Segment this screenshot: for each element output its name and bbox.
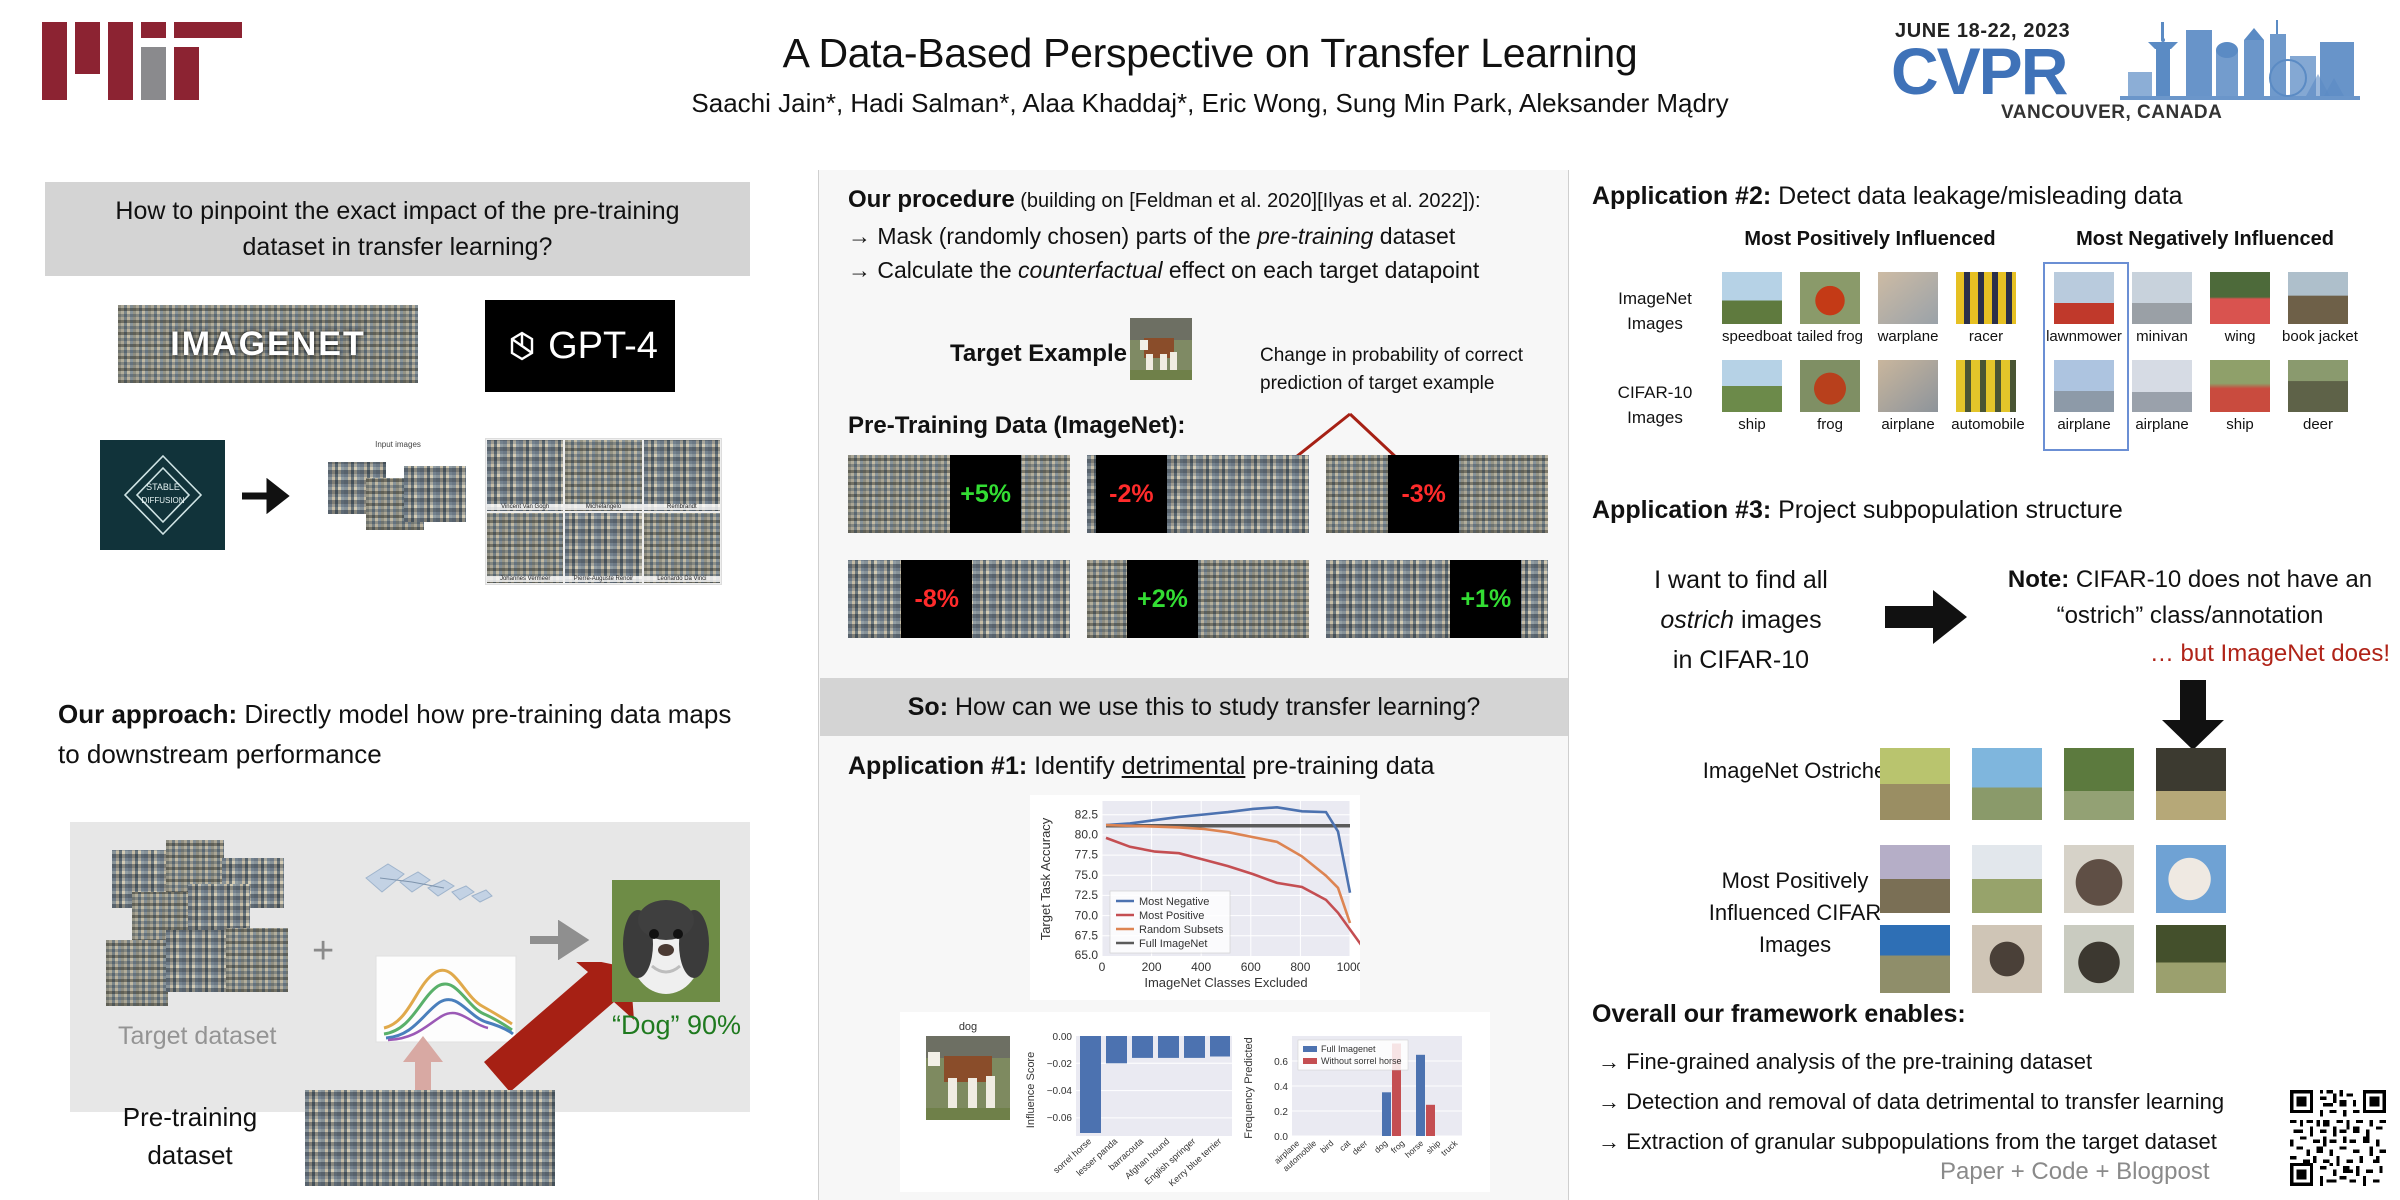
svg-text:truck: truck — [1439, 1138, 1460, 1158]
caption: frog — [1800, 416, 1860, 433]
svg-text:67.5: 67.5 — [1075, 929, 1099, 943]
thumb-deer-neg — [2288, 360, 2348, 412]
masked-panel-value: -2% — [1109, 480, 1153, 509]
caption: speedboat — [1722, 328, 1782, 345]
cifar-ostrich-thumb — [2156, 925, 2226, 993]
caption: warplane — [1874, 328, 1942, 345]
svg-text:Frequency Predicted: Frequency Predicted — [1243, 1037, 1255, 1139]
procedure-citation: (building on [Feldman et al. 2020][Ilyas… — [1015, 190, 1481, 212]
plus-symbol: + — [312, 930, 334, 973]
sd-input-images: Input images — [318, 440, 478, 550]
qr-code[interactable] — [2290, 1090, 2386, 1186]
thumb-automobile — [1956, 360, 2016, 412]
caption: airplane — [2050, 416, 2118, 433]
app2-caption-row-neg-cifar: airplane airplane ship deer — [2054, 416, 2354, 440]
stable-diffusion-icon: STABLE DIFFUSION — [115, 450, 211, 540]
caption: lawnmower — [2046, 328, 2122, 345]
app3-note: Note: CIFAR-10 does not have an “ostrich… — [1990, 562, 2390, 634]
svg-text:200: 200 — [1142, 960, 1162, 974]
svg-text:0: 0 — [1099, 960, 1106, 974]
caption: ship — [1722, 416, 1782, 433]
want-ostrich: ostrich — [1660, 606, 1734, 634]
app3-ostrich-row-imagenet — [1880, 748, 2240, 826]
masked-panel: +2% — [1087, 560, 1309, 638]
svg-text:−0.06: −0.06 — [1047, 1113, 1073, 1124]
app1-label: Application #1: — [848, 752, 1027, 780]
svg-text:75.0: 75.0 — [1075, 868, 1099, 882]
app3-but-imagenet-does: … but ImageNet does! — [1990, 640, 2390, 668]
caption: minivan — [2132, 328, 2192, 345]
our-approach-label: Our approach: — [58, 699, 237, 729]
app3-ostrich-row-cifar-1 — [1880, 845, 2240, 917]
ostrich-thumb — [2064, 748, 2134, 820]
svg-text:400: 400 — [1191, 960, 1211, 974]
cifar-ostrich-thumb — [1972, 925, 2042, 993]
want-line2-rest: images — [1734, 606, 1822, 634]
caption: automobile — [1950, 416, 2026, 433]
masked-panel-value: +1% — [1460, 585, 1511, 614]
masked-panel: -2% — [1087, 455, 1309, 533]
app3-ostrich-row-cifar-2 — [1880, 925, 2240, 997]
cifar-ostrich-thumb — [1880, 925, 1950, 993]
pretraining-dataset-thumb — [305, 1090, 555, 1186]
app3-cifar-label: Most Positively Influenced CIFAR Images — [1690, 865, 1900, 961]
masked-panels-grid: +5% -2% -3% -8% +2% +1% — [848, 455, 1548, 655]
down-arrow-icon — [2160, 680, 2226, 752]
svg-text:−0.02: −0.02 — [1047, 1059, 1073, 1070]
masked-panel-value: -8% — [915, 585, 959, 614]
overall-item-text: Extraction of granular subpopulations fr… — [1626, 1129, 2217, 1154]
svg-text:600: 600 — [1241, 960, 1261, 974]
svg-text:horse: horse — [1403, 1138, 1426, 1160]
so-label: So: — [908, 693, 948, 721]
svg-text:82.5: 82.5 — [1075, 807, 1099, 821]
so-banner: So: How can we use this to study transfe… — [820, 678, 1568, 736]
svg-text:dog: dog — [959, 1021, 977, 1033]
sd-artist-grid: Vincent Van Gogh Michelangelo Rembrandt … — [485, 438, 722, 585]
pretraining-data-label: Pre-Training Data (ImageNet): — [848, 412, 1185, 440]
svg-text:Full ImageNet: Full ImageNet — [1139, 938, 1207, 950]
app3-imagenet-ostriches-label: ImageNet Ostriches — [1700, 755, 1900, 787]
accuracy-line-chart: 65.067.570.0 72.575.077.5 80.082.5 02004… — [1030, 795, 1360, 1000]
ostrich-thumb — [2156, 748, 2226, 820]
divider-right — [1568, 170, 1569, 1200]
app1-underline: detrimental — [1122, 752, 1246, 780]
so-body: How can we use this to study transfer le… — [948, 693, 1480, 721]
author-list: Saachi Jain*, Hadi Salman*, Alaa Khaddaj… — [600, 88, 1820, 119]
divider-left — [818, 170, 819, 1200]
thumb-tailed-frog — [1800, 272, 1860, 324]
svg-text:deer: deer — [1350, 1138, 1369, 1157]
cifar-ostrich-thumb — [2156, 845, 2226, 913]
svg-text:72.5: 72.5 — [1075, 888, 1099, 902]
ostrich-thumb — [1972, 748, 2042, 820]
target-example-thumb — [1130, 318, 1192, 380]
svg-text:Target Task Accuracy: Target Task Accuracy — [1038, 817, 1053, 940]
openai-icon — [502, 326, 542, 366]
cifar-ostrich-thumb — [1972, 845, 2042, 913]
masked-panel-value: +2% — [1137, 585, 1188, 614]
ostrich-thumb — [1880, 748, 1950, 820]
cifar-ostrich-thumb — [1880, 845, 1950, 913]
app2-caption-row-pos-cifar: ship frog airplane automobile — [1722, 416, 2022, 440]
app2-positive-header: Most Positively Influenced — [1720, 228, 2020, 251]
app2-caption-row-pos-imagenet: speedboat tailed frog warplane racer — [1722, 328, 2022, 352]
svg-text:dog: dog — [1372, 1138, 1389, 1155]
overall-list: → Fine-grained analysis of the pre-train… — [1598, 1042, 2318, 1162]
thumb-warplane — [1878, 272, 1938, 324]
arrow-glyph-icon: → — [848, 257, 871, 283]
qr-caption: Paper + Code + Blogpost — [1940, 1158, 2210, 1186]
gpt4-label: GPT-4 — [548, 325, 658, 368]
svg-text:bird: bird — [1318, 1138, 1335, 1155]
step1-post: dataset — [1373, 223, 1455, 249]
svg-text:STABLE: STABLE — [146, 482, 180, 492]
caption: airplane — [2128, 416, 2196, 433]
target-dataset-label: Target dataset — [118, 1022, 276, 1051]
callout-text: Change in probability of correct predict… — [1260, 342, 1560, 398]
caption: book jacket — [2282, 328, 2358, 345]
app2-label: Application #2: — [1592, 182, 1771, 210]
note-body: CIFAR-10 does not have an “ostrich” clas… — [2057, 566, 2373, 629]
masked-panel: +5% — [848, 455, 1070, 533]
svg-text:65.0: 65.0 — [1075, 948, 1099, 962]
app2-body: Detect data leakage/misleading data — [1771, 182, 2182, 210]
want-line3: in CIFAR-10 — [1606, 640, 1876, 680]
neural-network-icon — [360, 852, 520, 937]
overall-item-text: Detection and removal of data detrimenta… — [1626, 1089, 2224, 1114]
app2-imagenet-row-label: ImageNet Images — [1600, 286, 1710, 336]
procedure-step-1: → Mask (randomly chosen) parts of the pr… — [848, 219, 1548, 253]
svg-text:Most Positive: Most Positive — [1139, 910, 1204, 922]
sd-artist-caption: Leonardo Da Vinci — [644, 576, 720, 582]
thumb-minivan — [2132, 272, 2192, 324]
svg-text:Without sorrel horse: Without sorrel horse — [1321, 1056, 1402, 1066]
application1-heading: Application #1: Identify detrimental pre… — [848, 752, 1434, 781]
caption: tailed frog — [1794, 328, 1866, 345]
overall-heading: Overall our framework enables: — [1592, 1000, 1966, 1029]
thumb-speedboat — [1722, 272, 1782, 324]
sd-artist-caption: Pierre-Auguste Renoir — [565, 576, 641, 582]
masked-panel: +1% — [1326, 560, 1548, 638]
masked-panel: -3% — [1326, 455, 1548, 533]
target-example-label: Target Example — [950, 340, 1127, 368]
svg-text:ImageNet Classes Excluded: ImageNet Classes Excluded — [1144, 975, 1307, 990]
imagenet-wordmark: IMAGENET — [118, 305, 418, 383]
page-title: A Data-Based Perspective on Transfer Lea… — [600, 30, 1820, 77]
step2-post: effect on each target datapoint — [1163, 257, 1480, 283]
svg-text:Random Subsets: Random Subsets — [1139, 924, 1224, 936]
sd-input-label: Input images — [318, 440, 478, 449]
research-question-text: How to pinpoint the exact impact of the … — [78, 193, 718, 265]
horse-photo — [1130, 318, 1192, 380]
procedure-label: Our procedure — [848, 186, 1015, 213]
caption: wing — [2210, 328, 2270, 345]
vancouver-skyline-icon — [2120, 16, 2360, 102]
procedure-block: Our procedure (building on [Feldman et a… — [848, 182, 1548, 287]
svg-text:0.2: 0.2 — [1274, 1107, 1288, 1118]
caption: ship — [2210, 416, 2270, 433]
caption: deer — [2288, 416, 2348, 433]
thumb-book-jacket — [2288, 272, 2348, 324]
svg-text:80.0: 80.0 — [1075, 828, 1099, 842]
masked-panel: -8% — [848, 560, 1070, 638]
sd-artist-caption: Johannes Vermeer — [487, 576, 563, 582]
thumb-ship — [1722, 360, 1782, 412]
svg-text:1000: 1000 — [1337, 960, 1360, 974]
thumb-airplane — [1878, 360, 1938, 412]
black-right-arrow-icon — [1885, 588, 1971, 646]
qr-code-icon[interactable] — [2290, 1090, 2386, 1186]
sd-artist-caption: Vincent Van Gogh — [487, 504, 563, 510]
app3-label: Application #3: — [1592, 496, 1771, 524]
app2-negative-header: Most Negatively Influenced — [2055, 228, 2355, 251]
mit-logo — [42, 22, 242, 100]
thumb-ship-neg — [2210, 360, 2270, 412]
svg-text:70.0: 70.0 — [1075, 908, 1099, 922]
step1-pre: Mask (randomly chosen) parts of the — [877, 223, 1257, 249]
svg-text:ship: ship — [1424, 1138, 1442, 1156]
want-line1: I want to find all — [1606, 560, 1876, 600]
gpt4-logo: GPT-4 — [485, 300, 675, 392]
step2-pre: Calculate the — [877, 257, 1018, 283]
dog-prediction-label: “Dog” 90% — [612, 1010, 741, 1041]
svg-text:800: 800 — [1290, 960, 1310, 974]
app1-post: pre-training data — [1245, 752, 1434, 780]
pretraining-dataset-label: Pre-training dataset — [95, 1098, 285, 1174]
cifar-ostrich-thumb — [2064, 845, 2134, 913]
overall-item: → Fine-grained analysis of the pre-train… — [1598, 1042, 2318, 1082]
cvpr-logo: JUNE 18-22, 2023 CVPR VANCOUVER, CANADA — [1895, 14, 2365, 118]
svg-text:0.0: 0.0 — [1274, 1132, 1288, 1143]
poster-root: A Data-Based Perspective on Transfer Lea… — [0, 0, 2400, 1200]
dog-prediction-thumb — [612, 880, 720, 1002]
imagenet-dataset-thumb: IMAGENET — [118, 305, 418, 383]
thumb-racer — [1956, 272, 2016, 324]
app3-want-text: I want to find all ostrich images in CIF… — [1606, 560, 1876, 680]
pretraining-dataset-block: Pre-training dataset — [95, 1090, 755, 1190]
caption: airplane — [1874, 416, 1942, 433]
thumb-frog — [1800, 360, 1860, 412]
step2-ital: counterfactual — [1018, 257, 1162, 283]
app1-pre: Identify — [1027, 752, 1122, 780]
stable-diffusion-logo: STABLE DIFFUSION — [100, 440, 225, 550]
research-question-banner: How to pinpoint the exact impact of the … — [45, 182, 750, 276]
svg-text:−0.04: −0.04 — [1047, 1086, 1073, 1097]
cvpr-name: CVPR — [1891, 38, 2066, 104]
app2-caption-row-neg-imagenet: lawnmower minivan wing book jacket — [2054, 328, 2354, 352]
gray-arrow-icon — [530, 920, 600, 960]
procedure-step-2: → Calculate the counterfactual effect on… — [848, 253, 1548, 287]
thumb-airplane-neg2 — [2132, 360, 2192, 412]
sd-artist-caption: Michelangelo — [565, 504, 641, 510]
note-label: Note: — [2008, 566, 2069, 593]
thumb-wing — [2210, 272, 2270, 324]
overall-item: → Detection and removal of data detrimen… — [1598, 1082, 2318, 1122]
svg-text:DIFFUSION: DIFFUSION — [141, 496, 184, 505]
step1-ital: pre-training — [1257, 223, 1373, 249]
svg-text:0.6: 0.6 — [1274, 1057, 1288, 1068]
app2-cifar-row-label: CIFAR-10 Images — [1600, 380, 1710, 430]
arrow-glyph-icon: → — [848, 223, 871, 249]
overall-item-text: Fine-grained analysis of the pre-trainin… — [1626, 1049, 2092, 1074]
overall-item: → Extraction of granular subpopulations … — [1598, 1122, 2318, 1162]
svg-text:0.4: 0.4 — [1274, 1082, 1288, 1093]
caption: racer — [1956, 328, 2016, 345]
masked-panel-value: -3% — [1401, 480, 1445, 509]
right-arrow-icon — [240, 478, 300, 514]
thumb-airplane-neg — [2054, 360, 2114, 412]
thumb-lawnmower — [2054, 272, 2114, 324]
our-approach-text: Our approach: Directly model how pre-tra… — [58, 694, 758, 774]
svg-text:0.00: 0.00 — [1053, 1032, 1073, 1043]
shih-tzu-photo — [612, 880, 720, 1002]
app3-body: Project subpopulation structure — [1771, 496, 2123, 524]
cvpr-city: VANCOUVER, CANADA — [2001, 102, 2222, 124]
masked-panel-value: +5% — [960, 480, 1011, 509]
svg-text:Influence Score: Influence Score — [1025, 1052, 1037, 1128]
svg-text:Full Imagenet: Full Imagenet — [1321, 1044, 1376, 1054]
svg-text:Most Negative: Most Negative — [1139, 896, 1209, 908]
application2-heading: Application #2: Detect data leakage/misl… — [1592, 182, 2183, 211]
sd-artist-caption: Rembrandt — [644, 504, 720, 510]
cifar-ostrich-thumb — [2064, 925, 2134, 993]
influence-bar-charts: dog 0.00−0.02−0.04−0.06 Influence Score — [900, 1012, 1490, 1192]
application3-heading: Application #3: Project subpopulation st… — [1592, 496, 2123, 525]
svg-text:77.5: 77.5 — [1075, 848, 1099, 862]
